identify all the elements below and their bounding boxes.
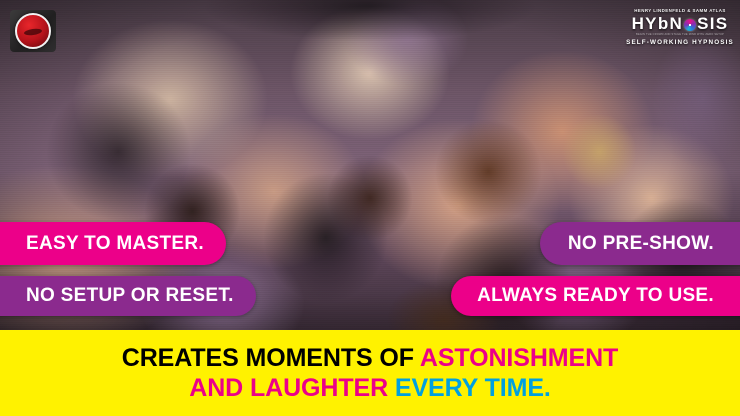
feature-banner-label: NO PRE-SHOW. — [568, 233, 714, 255]
feature-banner-no-pre-show: NO PRE-SHOW. — [540, 222, 740, 265]
logo-wordmark-part-n: N — [670, 15, 684, 32]
promo-slide: HENRY LINDENFELD & SAMM ATLAS HYbNSIS BE… — [0, 0, 740, 416]
logo-wordmark-part-1: HY — [632, 15, 658, 32]
logo-microcopy: BEGIN THE CROWD AND STAGE THE MIND WITH … — [626, 33, 734, 36]
headline-line-2-segment-1: AND LAUGHTER — [189, 374, 395, 402]
brand-logo-lockup: HENRY LINDENFELD & SAMM ATLAS HYbNSIS BE… — [626, 9, 734, 46]
feature-banner-easy-to-master: EASY TO MASTER. — [0, 222, 226, 265]
logo-wordmark: HYbNSIS — [626, 15, 734, 32]
feature-banner-label: EASY TO MASTER. — [26, 233, 204, 255]
headline-bar: CREATES MOMENTS OF ASTONISHMENT AND LAUG… — [0, 330, 740, 416]
logo-wordmark-part-2: SIS — [697, 15, 728, 32]
red-circle-watermark-icon — [10, 8, 56, 54]
feature-banner-label: NO SETUP OR RESET. — [26, 285, 234, 307]
logo-wordmark-part-b: b — [658, 15, 670, 32]
feature-banner-label: ALWAYS READY TO USE. — [477, 285, 714, 307]
feature-banner-no-setup-or-reset: NO SETUP OR RESET. — [0, 276, 256, 316]
headline-line-1: CREATES MOMENTS OF ASTONISHMENT — [122, 344, 618, 372]
feature-banner-always-ready-to-use: ALWAYS READY TO USE. — [451, 276, 740, 316]
hypnotic-spiral-icon — [684, 19, 696, 31]
headline-line-1-segment-2: ASTONISHMENT — [420, 344, 618, 372]
logo-credit-line: HENRY LINDENFELD & SAMM ATLAS — [626, 9, 734, 13]
headline-line-2-segment-2: EVERY TIME. — [395, 374, 551, 402]
headline-line-1-segment-1: CREATES MOMENTS OF — [122, 344, 420, 372]
badge-red-lens — [15, 13, 51, 49]
logo-tagline: SELF-WORKING HYPNOSIS — [626, 40, 734, 46]
headline-line-2: AND LAUGHTER EVERY TIME. — [189, 374, 551, 402]
